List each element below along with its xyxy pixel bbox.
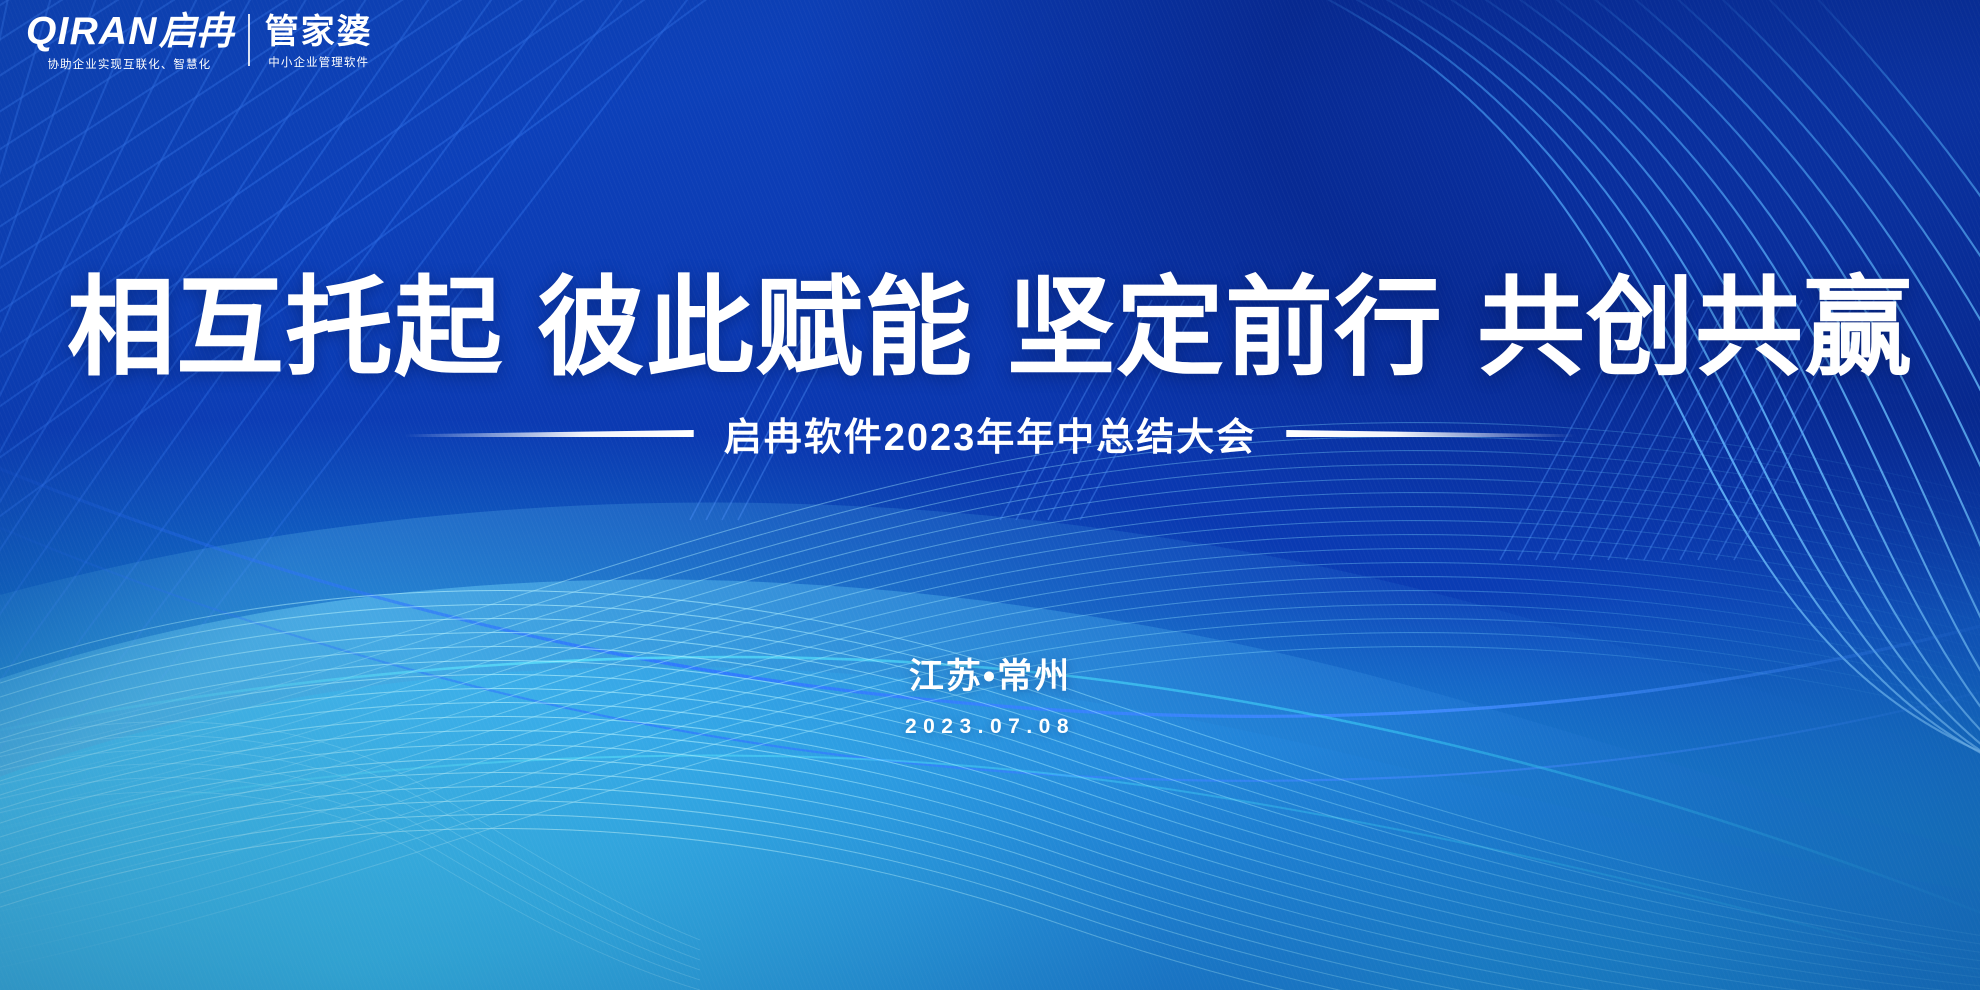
logo-latin-text: QIRAN (26, 12, 158, 51)
headline-segment-4: 共创共赢 (1477, 268, 1913, 389)
headline-segment-1: 相互托起 (67, 268, 503, 389)
curved-lines-decoration-top-right (0, 0, 1980, 990)
poster-subtitle: 启冉软件2023年年中总结大会 (724, 406, 1257, 461)
partner-wordmark: 管家婆 (265, 15, 373, 49)
headline-segment-3: 坚定前行 (1007, 268, 1443, 389)
poster-subtitle-row: 启冉软件2023年年中总结大会 (0, 406, 1980, 461)
subtitle-rule-right (1286, 430, 1576, 437)
subtitle-rule-left (404, 430, 694, 437)
headline-segment-2: 彼此赋能 (537, 268, 973, 389)
perspective-grid-decoration (0, 0, 1980, 990)
partner-tagline: 中小企业管理软件 (268, 54, 369, 70)
wave-ribbons-decoration (0, 0, 1980, 990)
mesh-wave-texture (0, 0, 1980, 990)
brand-logo: QIRAN 启冉 协助企业实现互联化、智慧化 管家婆 中小企业管理软件 (26, 12, 373, 72)
event-date: 2023.07.08 (0, 715, 1980, 739)
logo-chinese-text: 启冉 (159, 13, 233, 51)
logo-wordmark: QIRAN 启冉 (26, 12, 233, 51)
logo-primary-brand: QIRAN 启冉 协助企业实现互联化、智慧化 (26, 12, 233, 72)
event-location: 江苏•常州 (0, 648, 1980, 699)
texture-overlay (0, 0, 1980, 990)
vignette-overlay (0, 0, 1980, 990)
event-poster: QIRAN 启冉 协助企业实现互联化、智慧化 管家婆 中小企业管理软件 相互托起… (0, 0, 1980, 990)
logo-divider (248, 14, 250, 66)
logo-partner-brand: 管家婆 中小企业管理软件 (265, 12, 373, 70)
diagonal-hatch-accent (0, 0, 1980, 990)
logo-tagline: 协助企业实现互联化、智慧化 (47, 56, 211, 72)
background-gradient (0, 0, 1980, 990)
poster-headline: 相互托起彼此赋能坚定前行共创共赢 (0, 268, 1980, 389)
